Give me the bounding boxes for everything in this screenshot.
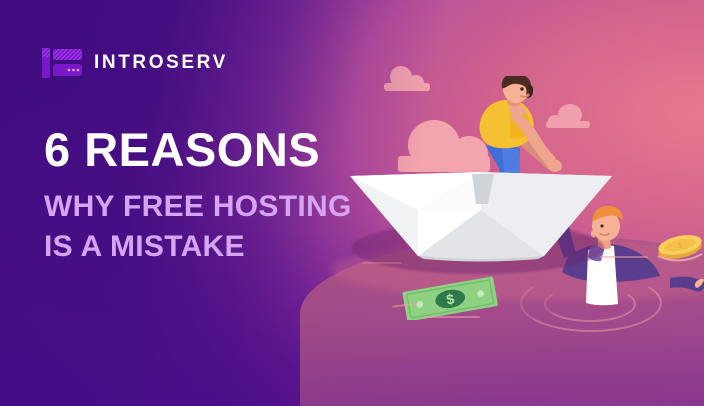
headline-line-3: IS A MISTAKE [44,227,352,267]
server-rack-icon [42,48,82,78]
paper-boat [348,158,614,262]
ripple-line-center [424,316,480,318]
brand-logo[interactable]: INTROSERV [42,48,228,78]
headline-line-2: WHY FREE HOSTING [44,187,352,227]
gold-coin: $ [652,228,704,266]
ripple-outer [520,274,662,332]
banner: $ [0,0,704,406]
headline-block: 6 REASONS WHY FREE HOSTING IS A MISTAKE [44,126,352,267]
ripple-line-far-left [362,262,402,264]
ripple-line-right [600,256,648,258]
dollar-bill: $ [398,276,502,320]
brand-name: INTROSERV [94,52,228,74]
headline-line-1: 6 REASONS [44,126,352,173]
